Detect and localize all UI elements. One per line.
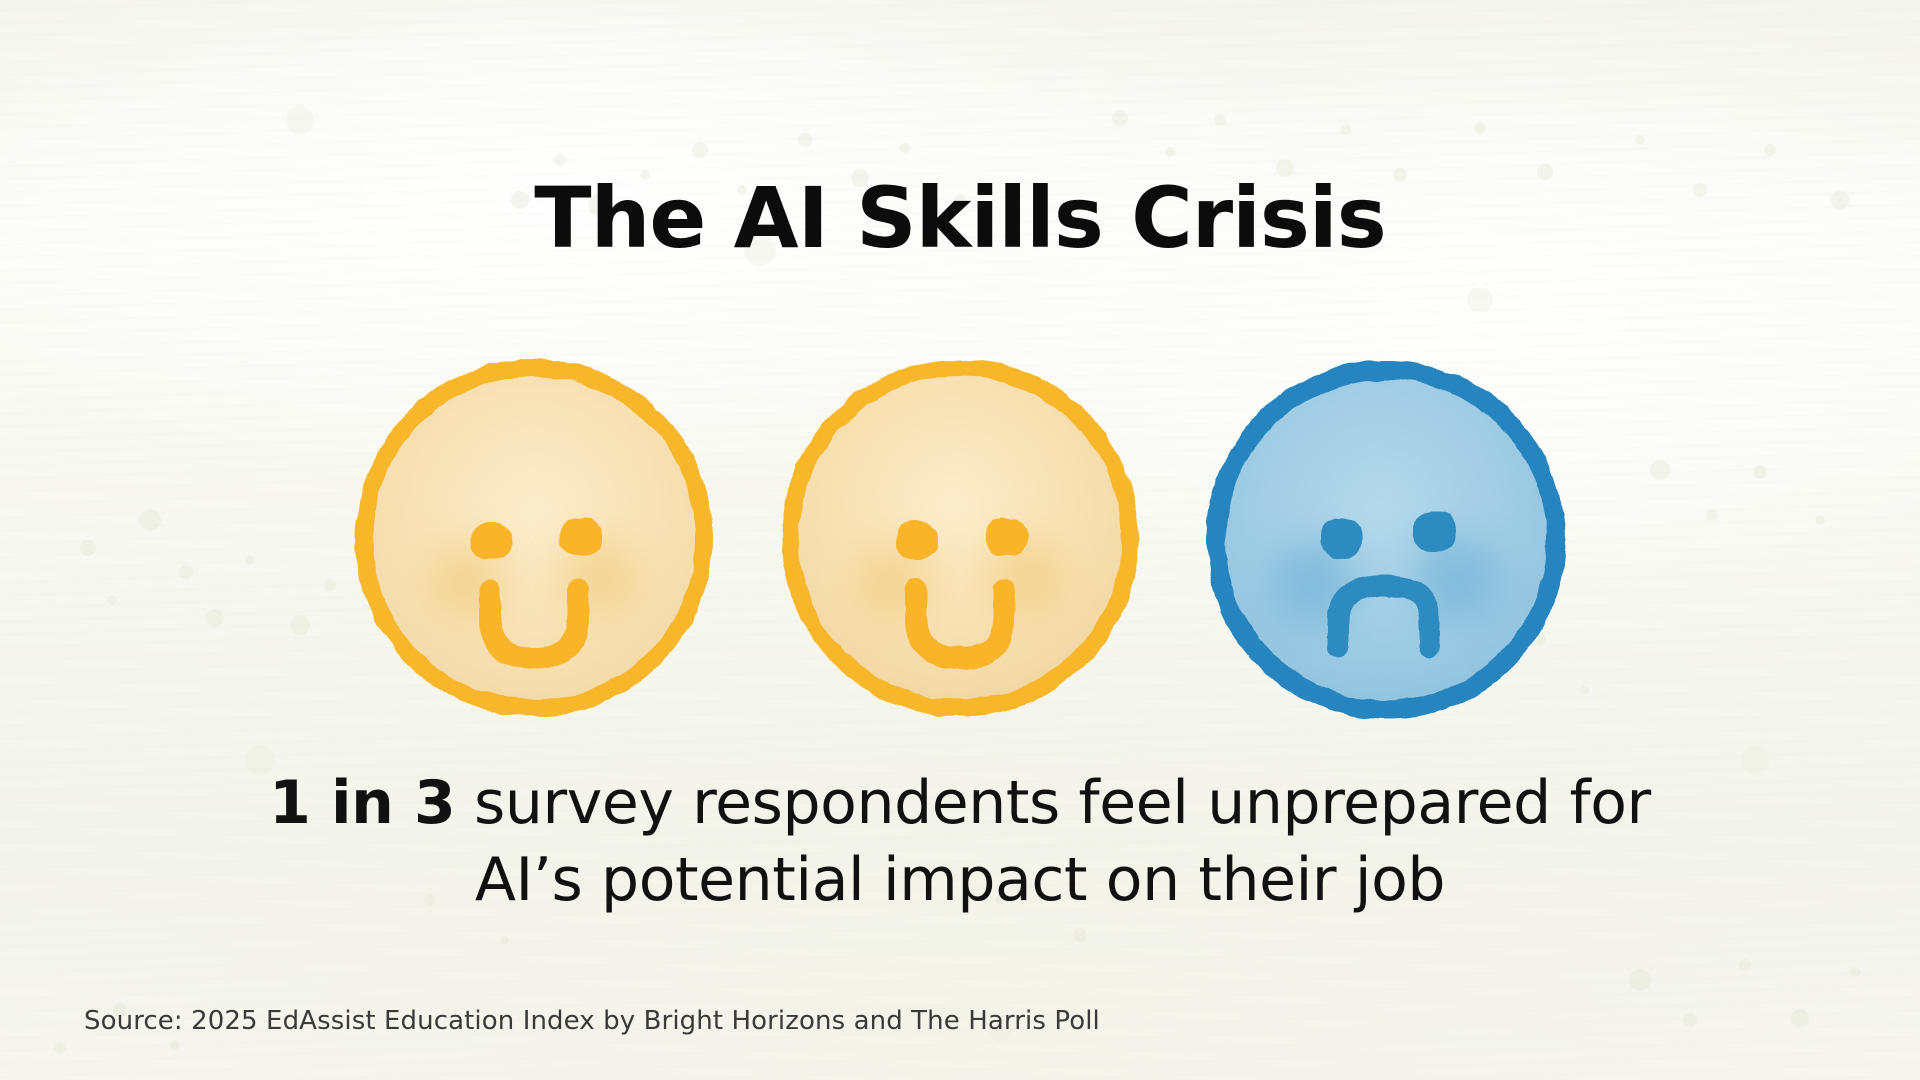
- subtitle-line-1: 1 in 3 survey respondents feel unprepare…: [0, 765, 1920, 842]
- face-pictograph-row: [0, 336, 1920, 736]
- happy-face-icon: [764, 346, 1156, 726]
- infographic-poster: The AI Skills Crisis: [0, 0, 1920, 1080]
- source-citation: Source: 2025 EdAssist Education Index by…: [84, 1006, 1100, 1036]
- happy-face-icon: [338, 346, 730, 726]
- subtitle-statistic: 1 in 3 survey respondents feel unprepare…: [0, 765, 1920, 919]
- sad-face-icon: [1190, 346, 1582, 726]
- statistic-ratio: 1 in 3: [269, 768, 455, 838]
- subtitle-line-2: AI’s potential impact on their job: [0, 842, 1920, 919]
- subtitle-line-1-rest: survey respondents feel unprepared for: [455, 768, 1651, 838]
- poster-title: The AI Skills Crisis: [0, 176, 1920, 260]
